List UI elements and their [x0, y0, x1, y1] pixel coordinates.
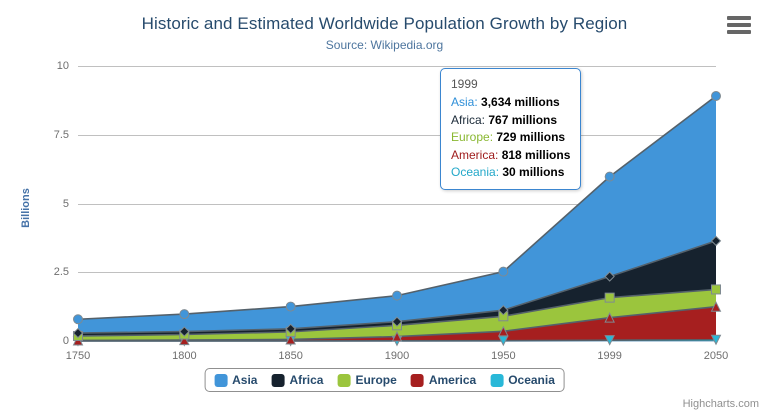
x-tick-label: 1850	[278, 350, 302, 362]
tooltip-series-value: 30 millions	[502, 165, 564, 179]
marker-asia[interactable]	[180, 310, 189, 319]
legend-item-oceania[interactable]: Oceania	[490, 373, 555, 387]
tooltip-row: America: 818 millions	[451, 147, 570, 164]
marker-asia[interactable]	[712, 92, 721, 101]
marker-asia[interactable]	[605, 172, 614, 181]
tooltip-row: Africa: 767 millions	[451, 112, 570, 129]
legend-item-africa[interactable]: Africa	[271, 373, 323, 387]
legend-swatch-icon	[490, 374, 503, 387]
y-axis-title: Billions	[20, 188, 32, 228]
legend-swatch-icon	[214, 374, 227, 387]
x-tick-label: 1750	[66, 350, 90, 362]
y-tick-label: 0	[63, 335, 69, 347]
legend-label: Oceania	[508, 373, 555, 387]
menu-bar-1	[727, 16, 751, 20]
chart-legend: AsiaAfricaEuropeAmericaOceania	[204, 368, 565, 392]
legend-label: America	[429, 373, 476, 387]
tooltip-header: 1999	[451, 76, 570, 93]
legend-item-america[interactable]: America	[411, 373, 476, 387]
chart-title: Historic and Estimated Worldwide Populat…	[0, 14, 769, 34]
marker-europe[interactable]	[605, 293, 614, 302]
legend-swatch-icon	[411, 374, 424, 387]
chart-subtitle: Source: Wikipedia.org	[0, 38, 769, 52]
highcharts-container: Historic and Estimated Worldwide Populat…	[0, 0, 769, 416]
tooltip-series-value: 818 millions	[502, 148, 571, 162]
legend-label: Asia	[232, 373, 257, 387]
legend-label: Africa	[289, 373, 323, 387]
tooltip-rows: Asia: 3,634 millionsAfrica: 767 millions…	[451, 94, 570, 181]
highcharts-credit[interactable]: Highcharts.com	[683, 398, 759, 410]
tooltip-row: Asia: 3,634 millions	[451, 94, 570, 111]
marker-asia[interactable]	[74, 315, 83, 324]
legend-label: Europe	[355, 373, 396, 387]
legend-item-asia[interactable]: Asia	[214, 373, 257, 387]
legend-swatch-icon	[271, 374, 284, 387]
x-tick-label: 1950	[491, 350, 515, 362]
x-tick-label: 1900	[385, 350, 409, 362]
x-tick-label: 2050	[704, 350, 728, 362]
marker-europe[interactable]	[712, 285, 721, 294]
menu-bar-2	[727, 23, 751, 27]
x-tick-label: 1999	[597, 350, 621, 362]
plot-area: 02.557.510 1750180018501900195019992050	[78, 66, 716, 341]
tooltip: 1999 Asia: 3,634 millionsAfrica: 767 mil…	[440, 68, 581, 190]
tooltip-row: Oceania: 30 millions	[451, 164, 570, 181]
legend-swatch-icon	[337, 374, 350, 387]
marker-asia[interactable]	[286, 302, 295, 311]
y-tick-label: 2.5	[54, 266, 69, 278]
tooltip-series-name: Europe:	[451, 130, 496, 144]
menu-bar-3	[727, 30, 751, 34]
marker-asia[interactable]	[499, 267, 508, 276]
marker-asia[interactable]	[393, 291, 402, 300]
tooltip-series-name: America:	[451, 148, 502, 162]
tooltip-series-name: Oceania:	[451, 165, 502, 179]
x-tick-label: 1800	[172, 350, 196, 362]
y-tick-label: 7.5	[54, 129, 69, 141]
tooltip-series-value: 729 millions	[496, 130, 565, 144]
tooltip-series-name: Asia:	[451, 95, 481, 109]
series-layer	[78, 66, 716, 341]
tooltip-row: Europe: 729 millions	[451, 129, 570, 146]
tooltip-series-name: Africa:	[451, 113, 488, 127]
tooltip-series-value: 3,634 millions	[481, 95, 560, 109]
hamburger-menu-icon[interactable]	[727, 16, 751, 34]
y-tick-label: 10	[57, 60, 69, 72]
tooltip-series-value: 767 millions	[488, 113, 557, 127]
y-tick-label: 5	[63, 198, 69, 210]
legend-item-europe[interactable]: Europe	[337, 373, 396, 387]
